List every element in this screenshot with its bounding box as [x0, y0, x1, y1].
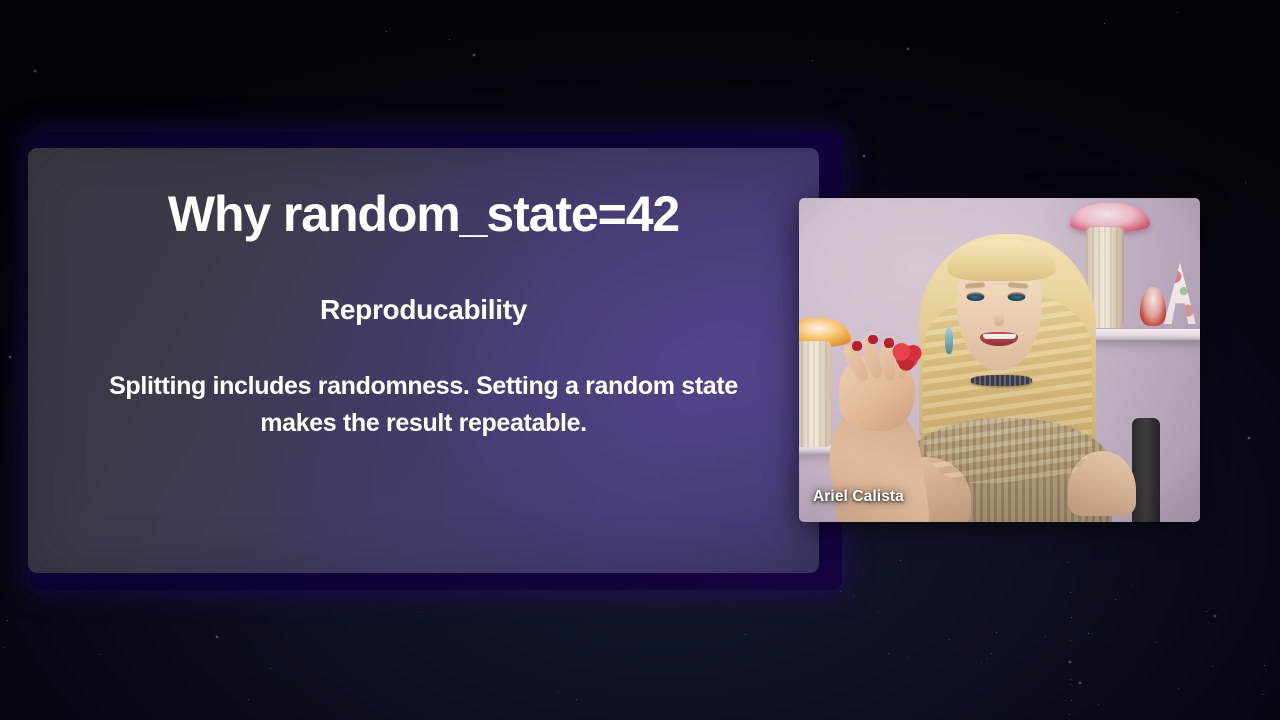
star-dot	[1069, 714, 1070, 715]
star-dot	[908, 657, 909, 658]
star-dot	[812, 60, 813, 61]
star-dot	[853, 595, 854, 596]
slide-body-text: Splitting includes randomness. Setting a…	[104, 368, 744, 442]
slide-title: Why random_state=42	[168, 188, 679, 240]
star-dot	[1098, 704, 1099, 705]
star-dot	[888, 653, 889, 654]
star-dot	[100, 654, 101, 655]
star-dot	[7, 620, 8, 621]
star-dot	[981, 662, 982, 663]
star-dot	[900, 560, 901, 561]
star-dot	[558, 691, 559, 692]
star-dot	[1070, 640, 1071, 641]
star-dot	[1104, 23, 1105, 24]
star-dot	[34, 70, 36, 72]
star-dot	[1070, 684, 1071, 685]
star-dot	[878, 611, 879, 612]
slide-subtitle: Reproducability	[320, 294, 527, 326]
star-dot	[270, 668, 271, 669]
star-dot	[1068, 562, 1069, 563]
earring	[945, 328, 953, 354]
star-dot	[9, 356, 11, 358]
star-dot	[4, 647, 5, 648]
star-dot	[1212, 666, 1213, 667]
star-dot	[1045, 636, 1046, 637]
speaker-name-label: Ariel Calista	[813, 488, 904, 506]
star-dot	[1264, 665, 1265, 666]
star-dot	[1178, 688, 1179, 689]
star-dot	[1065, 700, 1066, 701]
star-dot	[907, 48, 909, 50]
star-dot	[1071, 617, 1072, 618]
presentation-stage: Why random_state=42 Reproducability Spli…	[0, 0, 1280, 720]
star-dot	[1248, 437, 1250, 439]
speaker-person	[799, 198, 1200, 522]
red-flower	[887, 341, 927, 373]
star-dot	[745, 634, 746, 635]
star-dot	[1070, 592, 1071, 593]
star-dot	[863, 155, 865, 157]
slide-content: Why random_state=42 Reproducability Spli…	[28, 148, 819, 573]
star-dot	[1156, 642, 1157, 643]
star-dot	[1132, 585, 1133, 586]
star-dot	[1079, 682, 1081, 684]
star-dot	[1115, 599, 1116, 600]
star-dot	[1070, 679, 1071, 680]
star-dot	[991, 653, 992, 654]
choker-necklace	[971, 375, 1031, 386]
star-dot	[576, 699, 577, 700]
star-dot	[449, 39, 450, 40]
star-dot	[386, 31, 387, 32]
star-dot	[1177, 12, 1178, 13]
slide-card[interactable]: Why random_state=42 Reproducability Spli…	[28, 148, 819, 573]
star-dot	[1206, 611, 1207, 612]
eye-right	[1008, 294, 1025, 301]
star-dot	[216, 636, 218, 638]
star-dot	[1214, 615, 1216, 617]
teeth	[983, 334, 1017, 340]
fingernail-2	[868, 335, 878, 345]
star-dot	[840, 591, 841, 592]
slide-container[interactable]: Why random_state=42 Reproducability Spli…	[20, 132, 832, 590]
webcam-video-panel[interactable]: Ariel Calista	[799, 198, 1200, 522]
star-dot	[949, 639, 950, 640]
star-dot	[1245, 182, 1246, 183]
star-dot	[1262, 694, 1263, 695]
star-dot	[1071, 700, 1072, 701]
star-dot	[248, 699, 249, 700]
eye-left	[967, 294, 984, 301]
star-dot	[986, 658, 987, 659]
star-dot	[1069, 661, 1071, 663]
star-dot	[996, 632, 997, 633]
star-dot	[473, 54, 475, 56]
fingernail-1	[852, 341, 862, 351]
nose	[994, 313, 1004, 326]
star-dot	[1088, 633, 1089, 634]
